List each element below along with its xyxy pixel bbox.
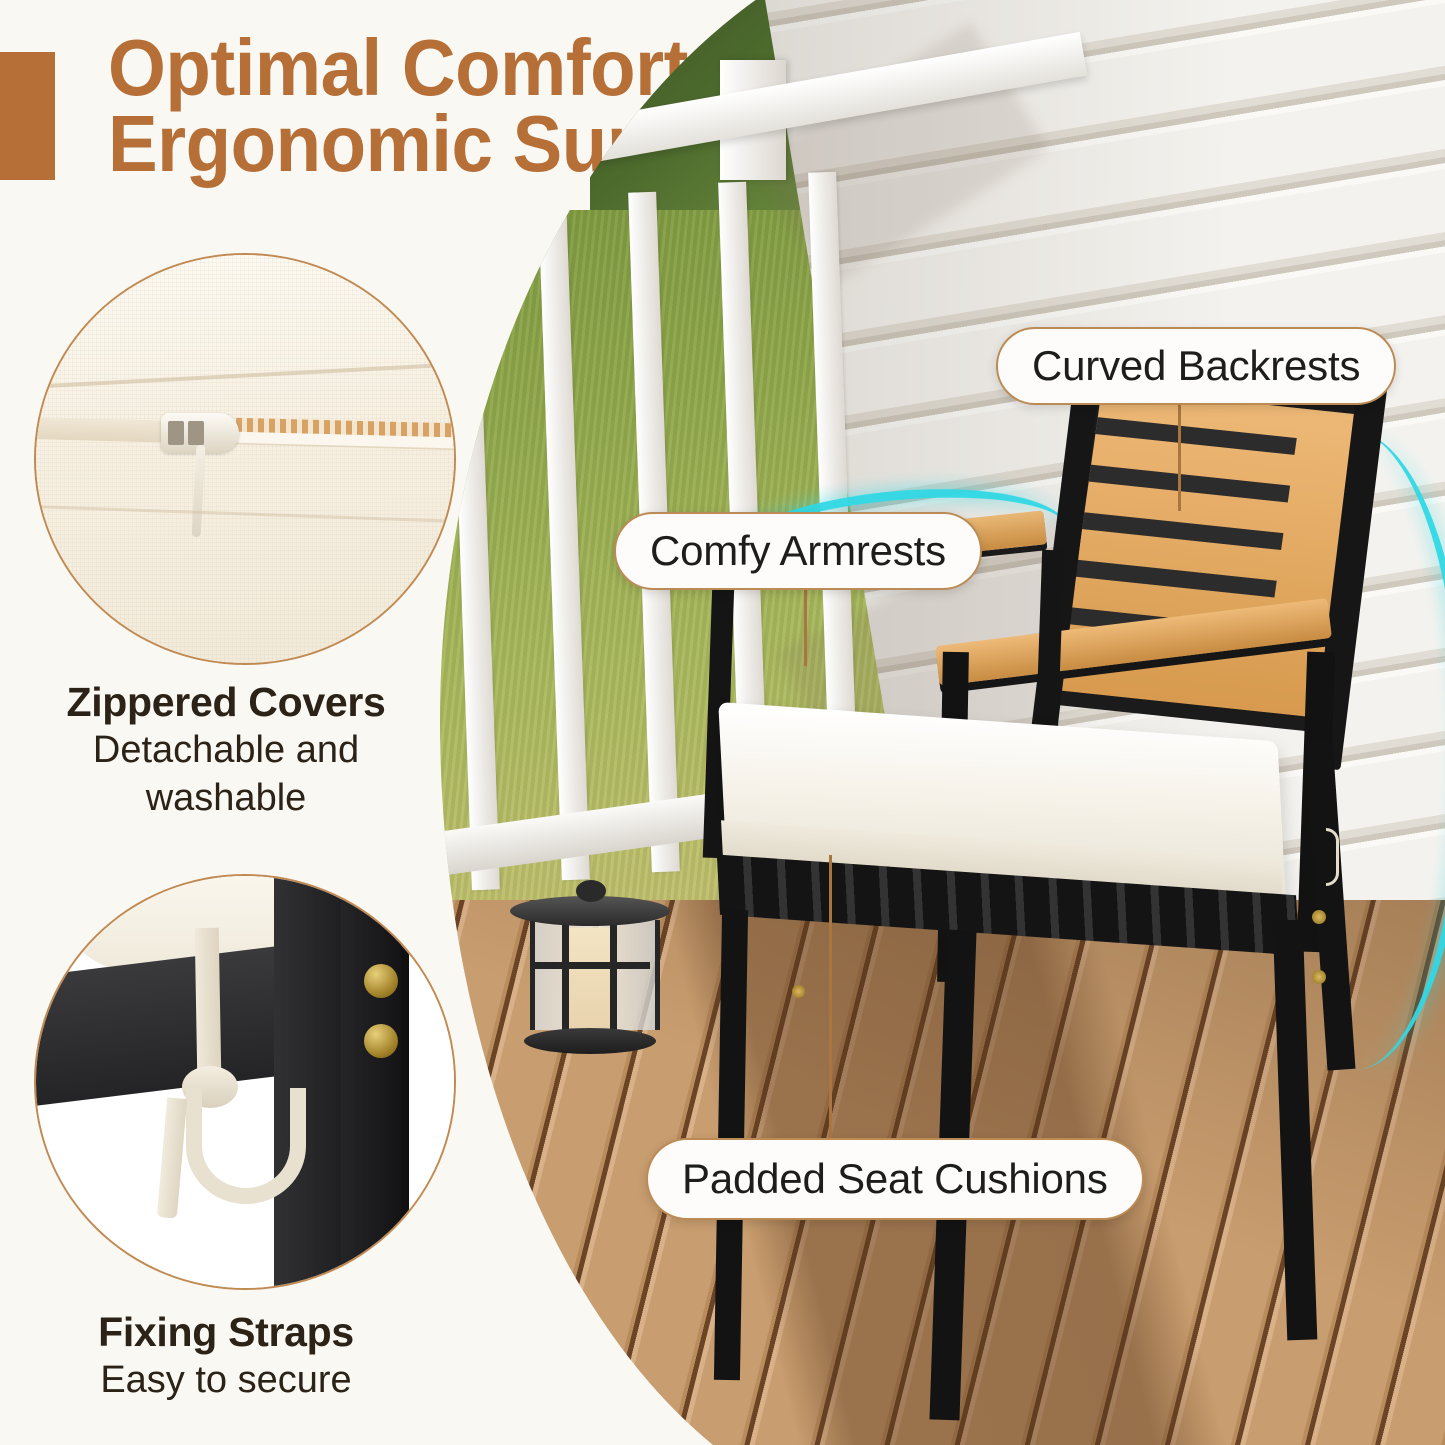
feature-image-zippered-covers — [34, 253, 456, 665]
leader-line-curved-backrests — [1178, 401, 1181, 511]
feature-image-fixing-straps — [34, 874, 456, 1290]
feature-subtitle-line-2: washable — [0, 777, 452, 820]
feature-title: Fixing Straps — [0, 1310, 452, 1354]
brass-bolt — [1312, 910, 1326, 924]
leader-line-padded-seat-cushions — [829, 855, 832, 1138]
headline-accent-bar — [0, 52, 55, 180]
callout-comfy-armrests[interactable]: Comfy Armrests — [614, 512, 982, 590]
chair-leg-back-right — [1273, 920, 1318, 1341]
feature-subtitle-line-1: Easy to secure — [0, 1359, 452, 1402]
feature-title: Zippered Covers — [0, 680, 452, 724]
feature-subtitle-line-1: Detachable and — [0, 729, 452, 772]
brass-bolt — [1312, 970, 1326, 984]
patio-chair — [440, 0, 1445, 1445]
feature-caption-zippered-covers: Zippered Covers Detachable and washable — [0, 680, 452, 819]
leader-line-comfy-armrests — [804, 586, 807, 666]
callout-padded-seat-cushions[interactable]: Padded Seat Cushions — [646, 1138, 1144, 1220]
main-product-photo — [440, 0, 1445, 1445]
callout-curved-backrests[interactable]: Curved Backrests — [996, 327, 1396, 405]
callout-label: Curved Backrests — [1032, 342, 1360, 390]
callout-label: Padded Seat Cushions — [682, 1155, 1108, 1203]
callout-label: Comfy Armrests — [650, 527, 946, 575]
feature-caption-fixing-straps: Fixing Straps Easy to secure — [0, 1310, 452, 1402]
brass-bolt — [792, 985, 805, 998]
cushion-strap-hook — [1326, 828, 1339, 886]
infographic-canvas: Optimal Comfort and Ergonomic Support Zi… — [0, 0, 1445, 1445]
